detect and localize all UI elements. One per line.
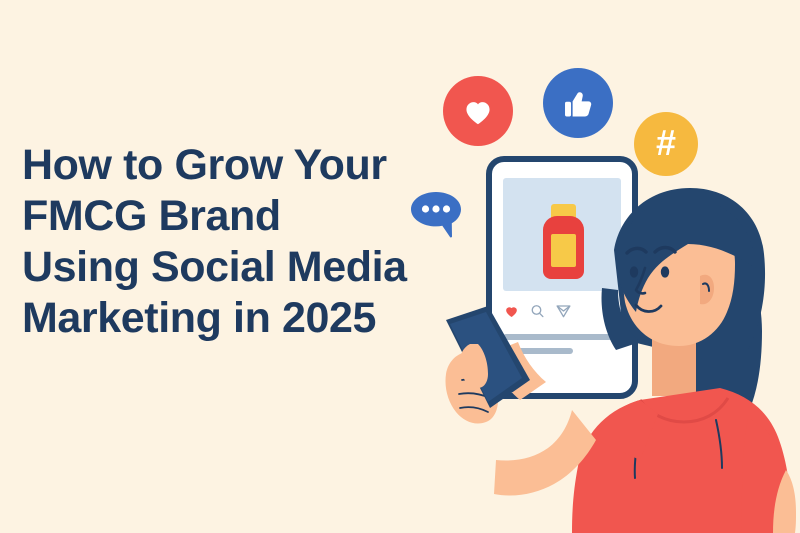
hashtag-badge[interactable]: #: [634, 112, 698, 176]
blog-banner: How to Grow Your FMCG Brand Using Social…: [0, 0, 800, 533]
chat-bubble-badge[interactable]: [409, 190, 465, 240]
thumbs-up-icon: [559, 84, 597, 122]
eye-left: [630, 266, 638, 277]
hashtag-icon: #: [656, 125, 676, 161]
heart-badge[interactable]: [443, 76, 513, 146]
thumbs-up-badge[interactable]: [543, 68, 613, 138]
heart-icon: [460, 95, 496, 128]
eye-right: [661, 266, 669, 277]
woman-illustration: [0, 0, 800, 533]
illustration: #: [0, 0, 800, 533]
chat-bubble-icon: [409, 190, 465, 240]
